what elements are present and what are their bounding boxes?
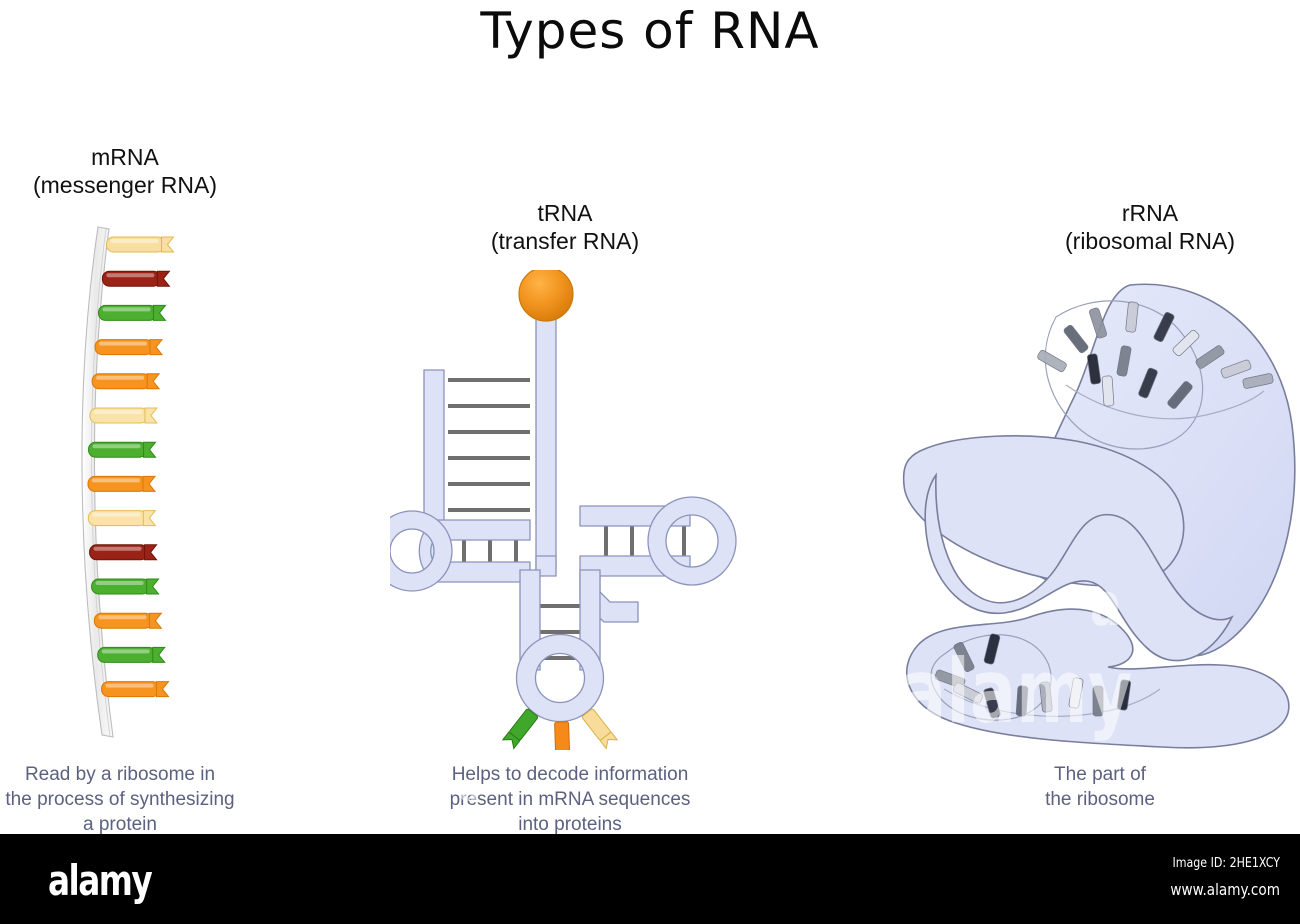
mrna-base-tip xyxy=(145,545,157,560)
mrna-base-gloss xyxy=(106,273,154,277)
mrna-base-gloss xyxy=(111,239,159,243)
mrna-base-gloss xyxy=(96,376,144,380)
mrna-base-tip xyxy=(143,511,155,526)
rrna-protein-bar xyxy=(1063,324,1089,354)
mrna-base-gloss xyxy=(102,307,150,311)
amino-acid-sphere xyxy=(519,270,573,321)
rrna-bar-body xyxy=(1102,376,1114,407)
trna-anticodon-loop-fill xyxy=(526,644,594,712)
mrna-base-tip xyxy=(147,374,159,389)
mrna-base-gloss xyxy=(94,410,142,414)
rrna-protein-bar xyxy=(1037,349,1068,373)
illustration-canvas: Types of RNA mRNA (messenger RNA) xyxy=(0,0,1300,834)
alamy-url-label[interactable]: www.alamy.com xyxy=(1170,880,1280,899)
trna-anticodon-loop-inner xyxy=(536,654,585,703)
trna-anticodon-base xyxy=(555,722,570,750)
mrna-figure xyxy=(40,225,240,745)
rrna-bar-body xyxy=(1063,324,1089,354)
page-title: Types of RNA xyxy=(0,2,1300,60)
mrna-base-gloss xyxy=(102,649,150,653)
mrna-base-tip xyxy=(149,613,161,628)
rrna-protein-bar xyxy=(1093,686,1103,716)
mrna-base-tip xyxy=(150,340,162,355)
mrna-base-tip xyxy=(144,442,156,457)
mrna-base-gloss xyxy=(93,444,141,448)
mrna-base-tip xyxy=(153,305,165,320)
mrna-base-gloss xyxy=(98,615,146,619)
trna-t-loop-inner xyxy=(666,515,718,567)
alamy-footer-bar: alamy Image ID: 2HE1XCY www.alamy.com xyxy=(0,834,1300,924)
mrna-base-gloss xyxy=(96,581,144,585)
mrna-base-tip xyxy=(157,682,169,697)
trna-svg xyxy=(390,270,760,750)
footer-meta: Image ID: 2HE1XCY www.alamy.com xyxy=(1151,856,1280,899)
trna-caption: Helps to decode information present in m… xyxy=(400,762,740,837)
rrna-caption: The part of the ribosome xyxy=(1000,762,1200,812)
rrna-bar-body xyxy=(1016,686,1028,717)
trna-heading: tRNA (transfer RNA) xyxy=(415,199,715,255)
mrna-base-tip xyxy=(157,271,169,286)
trna-anticodon-base xyxy=(503,708,539,748)
watermark-ghost-1: a xyxy=(760,290,791,358)
rrna-svg xyxy=(880,265,1300,755)
rrna-protein-bar xyxy=(1016,686,1028,717)
trna-anticodon-base xyxy=(582,708,618,748)
trna-t-loop-fill xyxy=(657,506,727,576)
rrna-bar-body xyxy=(1037,349,1068,373)
mrna-base-gloss xyxy=(99,342,147,346)
alamy-logo: alamy xyxy=(48,856,151,905)
mrna-base-gloss xyxy=(106,684,154,688)
mrna-base-tip xyxy=(147,579,159,594)
mrna-base-gloss xyxy=(92,513,140,517)
mrna-base-tip xyxy=(153,647,165,662)
image-id-label: Image ID: 2HE1XCY xyxy=(1170,856,1280,871)
mrna-base-gloss xyxy=(94,547,142,551)
rrna-bar-body xyxy=(1093,686,1103,716)
rrna-figure xyxy=(880,265,1300,755)
rrna-protein-bar xyxy=(1102,376,1114,407)
mrna-base-tip xyxy=(143,476,155,491)
mrna-base-tip xyxy=(145,408,157,423)
trna-base-body xyxy=(555,722,570,750)
mrna-base-tip xyxy=(162,237,174,252)
rrna-heading: rRNA (ribosomal RNA) xyxy=(1000,199,1300,255)
mrna-caption: Read by a ribosome in the process of syn… xyxy=(0,762,245,837)
trna-figure xyxy=(390,270,760,750)
mrna-svg xyxy=(40,225,240,745)
mrna-heading: mRNA (messenger RNA) xyxy=(0,143,250,199)
mrna-base-gloss xyxy=(92,478,140,482)
